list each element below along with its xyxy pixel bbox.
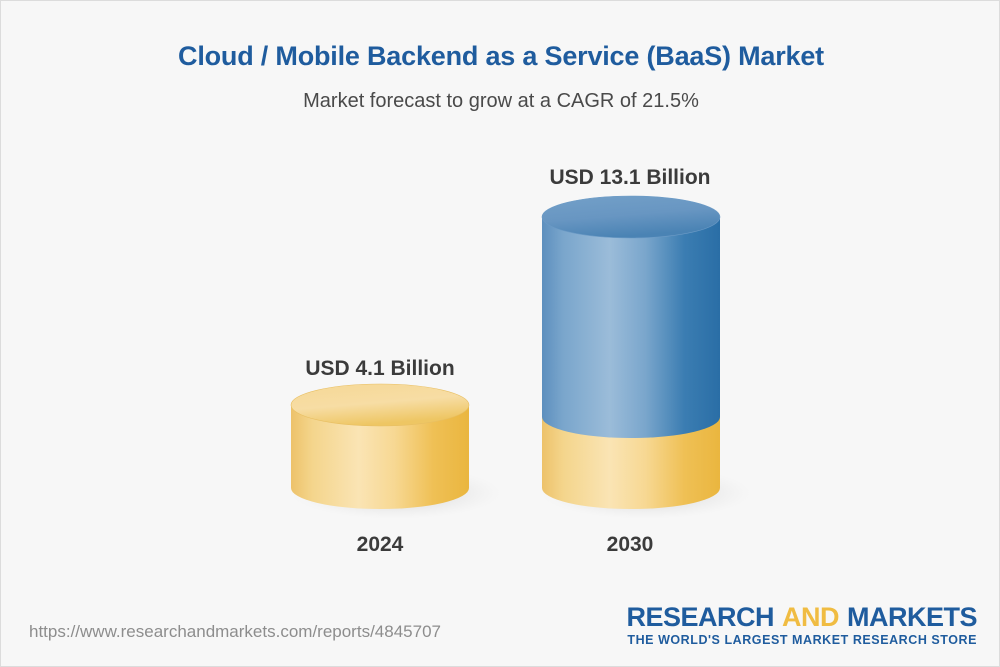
research-and-markets-logo[interactable]: RESEARCHANDMARKETS THE WORLD'S LARGEST M…: [626, 603, 977, 647]
bar-2030-segment-growth: [542, 217, 720, 438]
bar-2024-top-cap: [291, 384, 469, 426]
logo-word-markets: MARKETS: [847, 602, 977, 632]
data-label-2030: USD 13.1 Billion: [450, 166, 810, 190]
logo-tagline: THE WORLD'S LARGEST MARKET RESEARCH STOR…: [626, 633, 977, 647]
data-label-2024: USD 4.1 Billion: [200, 357, 560, 381]
bar-2030-top-cap: [542, 196, 720, 238]
chart-card: Cloud / Mobile Backend as a Service (Baa…: [0, 0, 1000, 667]
bar-chart-plot: [1, 1, 1000, 667]
logo-wordmark: RESEARCHANDMARKETS: [626, 603, 977, 631]
logo-word-and: AND: [782, 602, 839, 632]
source-url[interactable]: https://www.researchandmarkets.com/repor…: [29, 622, 441, 642]
logo-word-research: RESEARCH: [626, 602, 774, 632]
bar-2024: [291, 384, 501, 519]
category-label-2030: 2030: [450, 533, 810, 557]
bar-2030: [541, 196, 751, 519]
